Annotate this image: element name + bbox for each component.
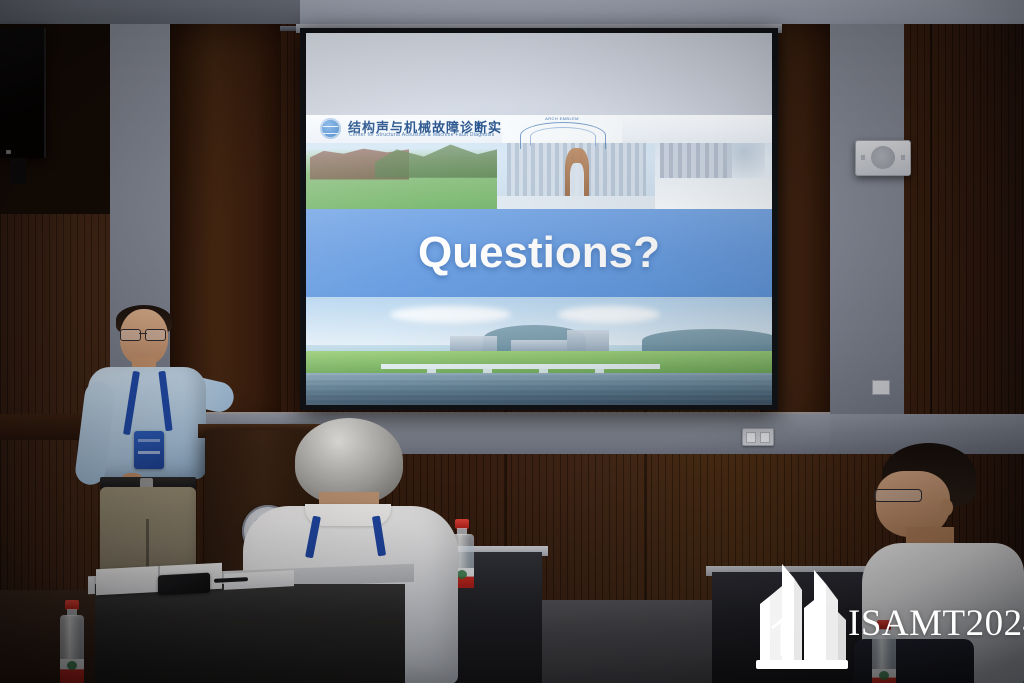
speaker-cone-icon (871, 146, 895, 169)
presentation-slide: 结构声与机械故障诊断实验室 Center for Structural Acou… (306, 33, 772, 405)
outlet-socket (746, 432, 756, 443)
campus-building (567, 330, 609, 353)
glasses-icon (120, 329, 166, 339)
projection-screen: 结构声与机械故障诊断实验室 Center for Structural Acou… (306, 33, 772, 405)
bottle-label (60, 659, 84, 683)
wall-plate (872, 380, 890, 395)
glasses-icon (874, 489, 922, 502)
attendee-right-ear (940, 499, 953, 516)
power-outlet-right[interactable] (742, 428, 774, 446)
isamt-building-logo (752, 556, 848, 672)
slide-title-text: Questions? (418, 228, 660, 278)
presenter-name-badge (134, 431, 164, 469)
distant-hill (642, 329, 772, 353)
tv-power-led (6, 150, 11, 154)
arch-emblem: ARCH EMBLEM (502, 115, 622, 143)
snow-ground (655, 178, 772, 209)
tv-mount (10, 158, 26, 184)
wall-mounted-tv[interactable] (0, 28, 46, 158)
lab-circle-logo (320, 118, 341, 139)
arch-inner-icon (530, 127, 596, 146)
plaza-ground (497, 196, 655, 209)
arch-emblem-text: ARCH EMBLEM (516, 116, 608, 121)
plaster-wall-right (824, 24, 904, 434)
smartphone[interactable] (158, 573, 210, 596)
bridge (381, 364, 661, 369)
slide-header-bar: 结构声与机械故障诊断实验室 Center for Structural Acou… (306, 115, 772, 143)
watermark-text: ISAMT2024 (848, 602, 1024, 645)
water-bottle-front[interactable] (60, 600, 90, 683)
slide-title: Questions? (306, 209, 772, 297)
outlet-socket (760, 432, 770, 443)
speaker-tweeter-icon (861, 155, 865, 160)
cloud (558, 306, 661, 323)
slide-lower-shadow (306, 373, 772, 405)
speaker-tweeter-icon (901, 155, 905, 160)
wall-speaker (855, 140, 911, 176)
front-table (95, 584, 405, 683)
arched-gateway (565, 148, 589, 198)
lab-title-en: Center for Structural Acoustics & Machin… (349, 132, 495, 138)
bottle-body (60, 615, 84, 683)
conference-room-photo: 结构声与机械故障诊断实验室 Center for Structural Acou… (0, 0, 1024, 683)
cloud (390, 306, 511, 323)
watermark: ISAMT2024 (752, 556, 1024, 676)
